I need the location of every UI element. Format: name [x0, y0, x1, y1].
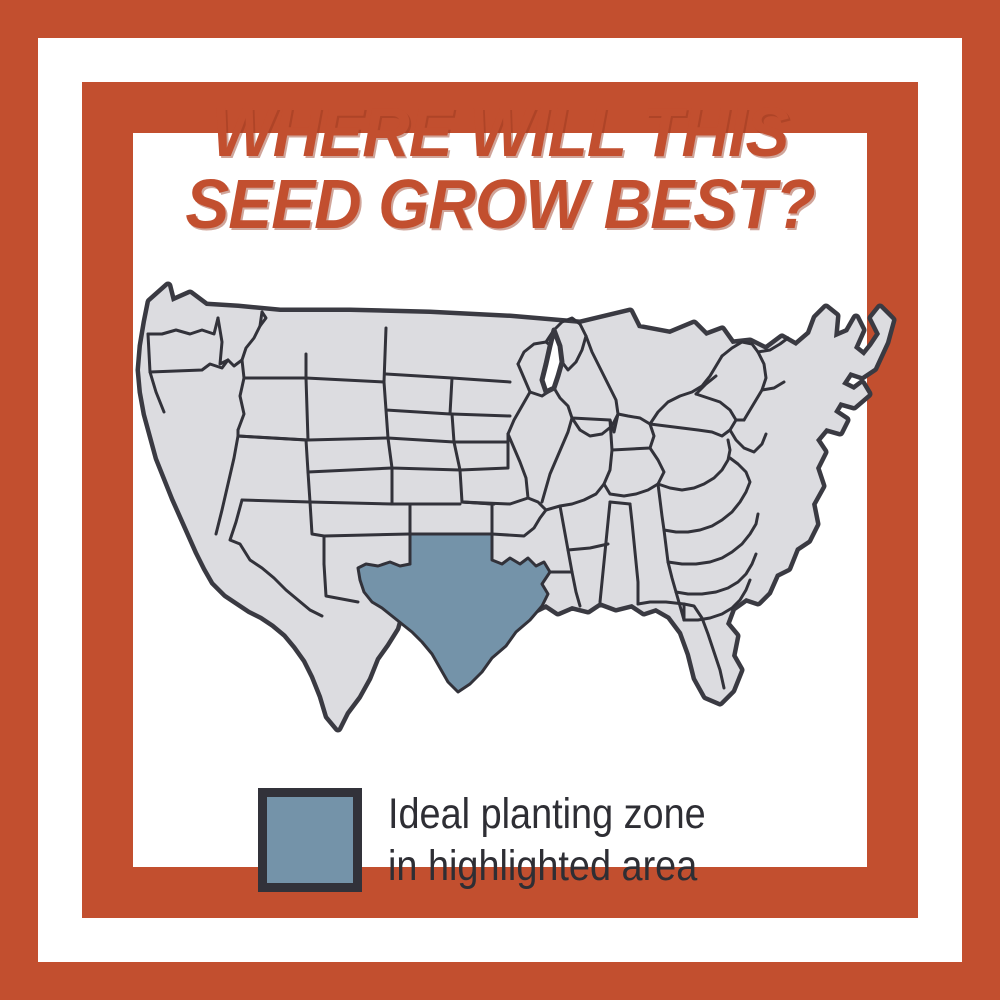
page-title: WHERE WILL THIS SEED GROW BEST?	[78, 96, 922, 240]
map-legend: Ideal planting zone in highlighted area	[258, 788, 749, 892]
legend-label-line-2: in highlighted area	[388, 840, 706, 892]
us-map-svg	[110, 272, 900, 762]
legend-label: Ideal planting zone in highlighted area	[388, 788, 706, 892]
page-title-line-1: WHERE WILL THIS	[78, 96, 922, 168]
page-title-line-2: SEED GROW BEST?	[78, 168, 922, 240]
legend-color-swatch	[258, 788, 362, 892]
map-layers	[140, 286, 892, 728]
united-states-map	[110, 272, 900, 762]
land-fill	[140, 286, 892, 728]
legend-label-line-1: Ideal planting zone	[388, 788, 706, 840]
